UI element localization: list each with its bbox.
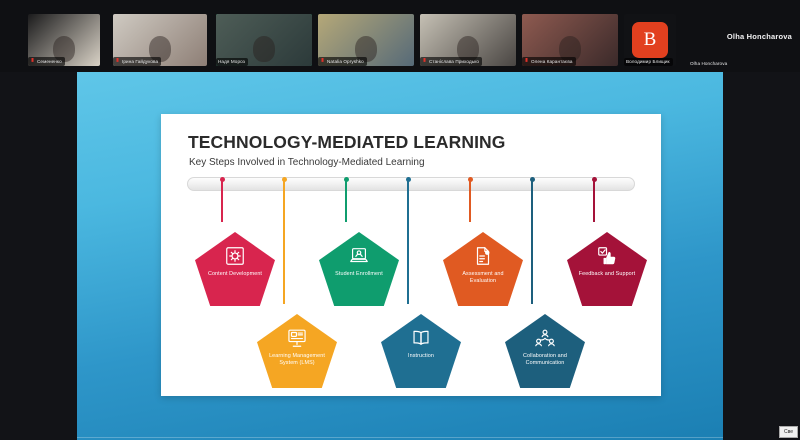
- mic-muted-icon: [320, 58, 325, 65]
- participant-name-chip: Олена Карантаєва: [522, 57, 576, 66]
- participant-name: Семененко: [37, 59, 62, 65]
- mic-muted-icon: [524, 58, 529, 65]
- pentagon-step-label: Collaboration and Communication: [511, 353, 578, 367]
- participant-name: Olha Honcharova: [690, 61, 727, 66]
- mic-muted-icon: [422, 58, 427, 65]
- participant-name-chip: Natalia Opryshko: [318, 57, 367, 66]
- screen-root: СемененкоІрина ГайдуковаНадя МорозNatali…: [0, 0, 800, 440]
- pentagon-step-label: Assessment and Evaluation: [449, 271, 516, 285]
- pentagon-step: Feedback and Support: [567, 232, 647, 306]
- pentagon-step: Learning Management System (LMS): [257, 314, 337, 388]
- self-name-label: Olha Honcharova: [727, 32, 792, 41]
- participant-tile[interactable]: Станіслава Приходько: [420, 14, 516, 66]
- step-dot: [592, 177, 597, 182]
- step-dot: [406, 177, 411, 182]
- step-dot: [282, 177, 287, 182]
- step-stem: [469, 180, 471, 222]
- step-dot: [344, 177, 349, 182]
- pentagon-step-label: Feedback and Support: [573, 271, 640, 278]
- pentagon-step-label: Student Enrollment: [325, 271, 392, 278]
- step-stem: [593, 180, 595, 222]
- step-stem: [283, 180, 285, 304]
- step-stem: [345, 180, 347, 222]
- desktop-monitor-icon: [284, 326, 310, 350]
- participant-name-chip: Ірина Гайдукова: [113, 57, 161, 66]
- avatar: В: [632, 22, 668, 58]
- thumbs-up-check-icon: [594, 244, 620, 268]
- laptop-user-icon: [346, 244, 372, 268]
- slide-subtitle: Key Steps Involved in Technology-Mediate…: [189, 157, 425, 168]
- shared-screen-stage[interactable]: TECHNOLOGY-MEDIATED LEARNING Key Steps I…: [77, 72, 723, 440]
- participant-name-chip: Надя Мороз: [216, 58, 248, 66]
- participant-tile[interactable]: Надя Мороз: [216, 14, 312, 66]
- participant-name: Ірина Гайдукова: [122, 59, 158, 65]
- pentagon-step-label: Learning Management System (LMS): [263, 353, 330, 367]
- pentagon-step: Instruction: [381, 314, 461, 388]
- participant-name: Надя Мороз: [218, 59, 245, 65]
- participant-name: Олена Карантаєва: [531, 59, 573, 65]
- participant-name-chip: Володимир Блищик: [624, 58, 673, 66]
- pentagon-step: Assessment and Evaluation: [443, 232, 523, 306]
- corner-tooltip: Све: [779, 426, 798, 438]
- pentagon-step-label: Content Development: [201, 271, 268, 278]
- pentagon-step-label: Instruction: [387, 353, 454, 360]
- participant-tile[interactable]: Олена Карантаєва: [522, 14, 618, 66]
- open-book-icon: [408, 326, 434, 350]
- participant-tile[interactable]: ВВолодимир Блищик: [624, 14, 676, 66]
- step-dot: [468, 177, 473, 182]
- participant-tile[interactable]: Семененко: [28, 14, 100, 66]
- step-stem: [531, 180, 533, 304]
- participant-name: Natalia Opryshko: [327, 59, 364, 65]
- report-gear-icon: [470, 244, 496, 268]
- participant-name: Володимир Блищик: [626, 59, 670, 65]
- presentation-slide[interactable]: TECHNOLOGY-MEDIATED LEARNING Key Steps I…: [161, 114, 661, 396]
- slide-title: TECHNOLOGY-MEDIATED LEARNING: [188, 132, 505, 153]
- pentagon-step: Student Enrollment: [319, 232, 399, 306]
- participant-tile[interactable]: Ірина Гайдукова: [113, 14, 207, 66]
- participant-filmstrip: СемененкоІрина ГайдуковаНадя МорозNatali…: [0, 0, 800, 72]
- person-silhouette: [253, 36, 275, 62]
- gear-document-icon: [222, 244, 248, 268]
- stage-bottom-divider: [77, 437, 723, 438]
- step-stem: [221, 180, 223, 222]
- participant-tile[interactable]: Natalia Opryshko: [318, 14, 414, 66]
- process-rail: [187, 177, 635, 191]
- step-dot: [530, 177, 535, 182]
- pentagon-step: Collaboration and Communication: [505, 314, 585, 388]
- participant-name: Станіслава Приходько: [429, 59, 479, 65]
- people-network-icon: [532, 326, 558, 350]
- mic-muted-icon: [115, 58, 120, 65]
- participant-name-chip: Станіслава Приходько: [420, 57, 482, 66]
- mic-muted-icon: [30, 58, 35, 65]
- pentagon-step: Content Development: [195, 232, 275, 306]
- participant-name-chip: Olha Honcharova: [690, 52, 727, 70]
- participant-name-chip: Семененко: [28, 57, 65, 66]
- step-dot: [220, 177, 225, 182]
- step-stem: [407, 180, 409, 304]
